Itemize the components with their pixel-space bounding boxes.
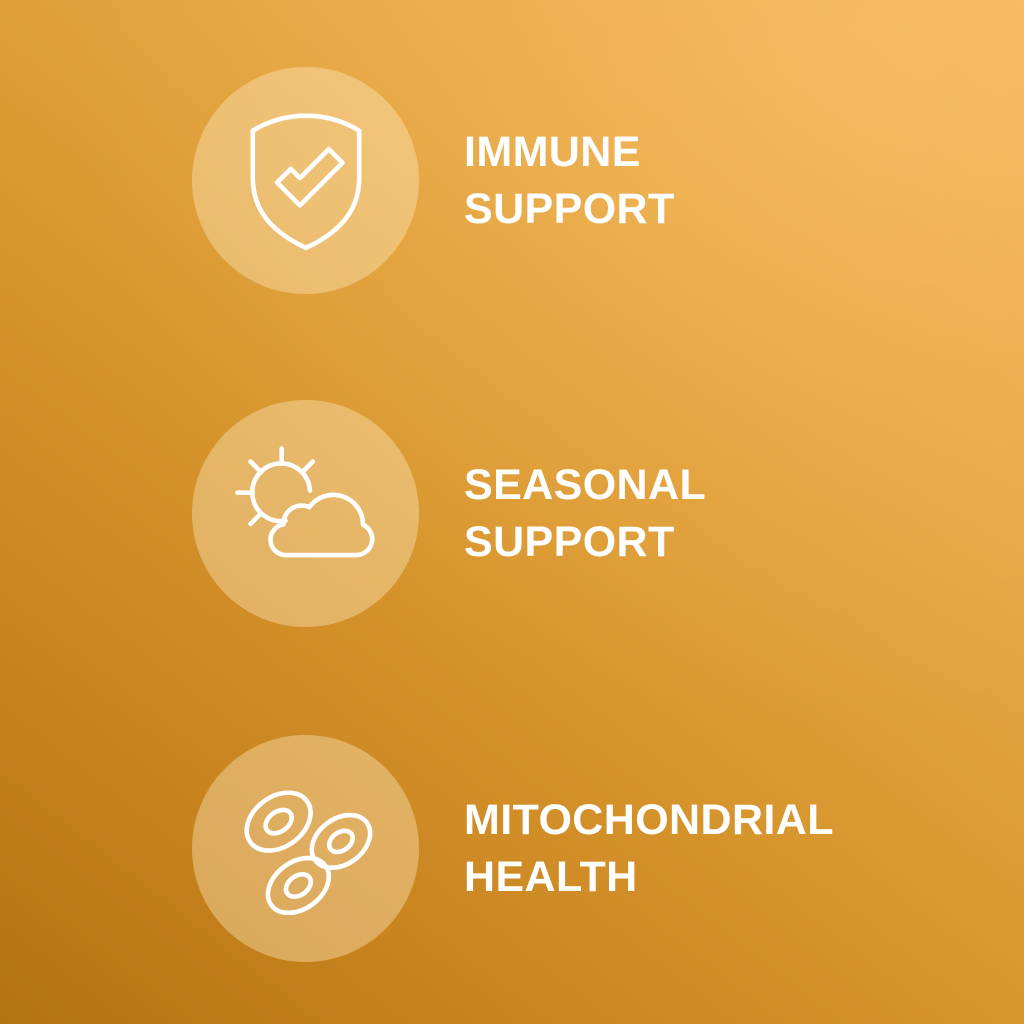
benefit-item-mitochondrial-health: MITOCHONDRIAL HEALTH [0, 735, 1024, 962]
benefit-item-immune-support: IMMUNE SUPPORT [0, 67, 1024, 294]
benefit-label-seasonal-support: SEASONAL SUPPORT [464, 457, 706, 571]
benefit-label-mitochondrial-health: MITOCHONDRIAL HEALTH [464, 792, 834, 906]
benefits-panel: IMMUNE SUPPORT SEASONAL SUPPORT [0, 0, 1024, 1024]
icon-disc-seasonal-support [192, 400, 419, 627]
cells-mitochondria-icon [230, 773, 382, 925]
icon-disc-mitochondrial-health [192, 735, 419, 962]
sun-behind-cloud-icon [230, 438, 382, 590]
benefit-item-seasonal-support: SEASONAL SUPPORT [0, 400, 1024, 627]
benefit-label-immune-support: IMMUNE SUPPORT [464, 124, 675, 238]
icon-disc-immune-support [192, 67, 419, 294]
shield-check-icon [230, 105, 382, 257]
